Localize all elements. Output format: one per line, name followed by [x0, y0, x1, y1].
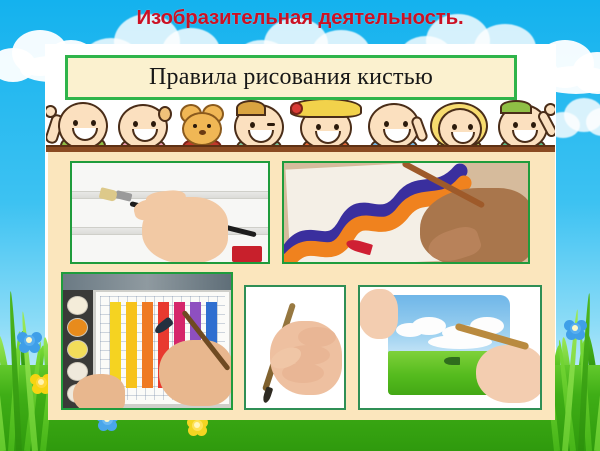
banner-plank [46, 145, 555, 152]
brush-tip [444, 357, 460, 365]
page-title: Изобразительная деятельность. [0, 6, 600, 30]
blue-flower-icon [564, 317, 586, 339]
photo-flat-brush-horizontal-stroke[interactable] [70, 161, 270, 264]
photo-correct-brush-grip[interactable] [244, 285, 346, 410]
finger [298, 327, 336, 347]
hair-icon [158, 106, 172, 122]
color-stripe [126, 302, 137, 388]
hand-icon [544, 103, 555, 116]
paint-well [67, 340, 88, 359]
blue-flower-icon [18, 329, 40, 351]
grass-border-left [0, 271, 52, 451]
paint-tray [63, 274, 231, 290]
cartoon-children-banner [46, 100, 555, 158]
photo-rainbow-stripes-painting[interactable] [61, 272, 233, 410]
photo-landscape-sky-and-grass-painting[interactable] [358, 285, 542, 410]
hair-icon [236, 100, 266, 116]
photo-gallery-panel [48, 152, 555, 420]
grass-border-right [548, 271, 600, 451]
photo-purple-orange-wave-painting[interactable] [282, 161, 530, 264]
cloud-icon [412, 317, 446, 335]
paint-well [67, 318, 88, 337]
subtitle-text: Правила рисования кистью [149, 64, 433, 91]
hand-icon [358, 289, 398, 339]
hair-icon [500, 100, 532, 114]
slide-canvas: Изобразительная деятельность. Правила ри… [0, 0, 600, 451]
paint-well [67, 296, 88, 315]
color-stripe [142, 302, 153, 388]
flower-icon [290, 102, 303, 115]
hand-icon [73, 374, 125, 410]
hand-icon [476, 345, 542, 403]
subtitle-box: Правила рисования кистью [65, 55, 517, 100]
red-box-object [232, 246, 262, 262]
hand-icon [159, 340, 233, 406]
